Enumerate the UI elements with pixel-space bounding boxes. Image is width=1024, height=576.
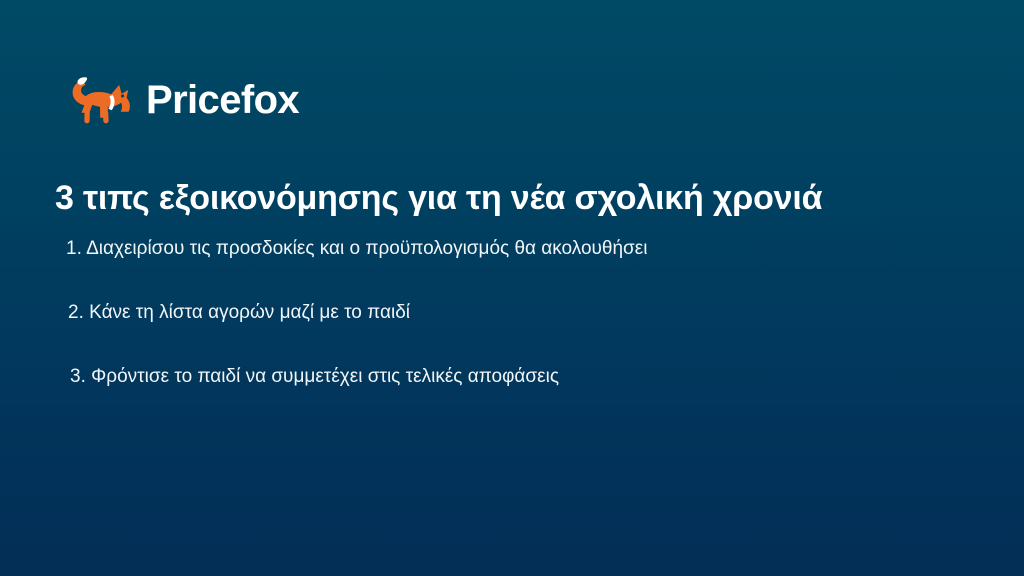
list-item: 1. Διαχειρίσου τις προσδοκίες και ο προϋ…: [66, 236, 966, 300]
brand-wordmark: Pricefox: [146, 80, 299, 120]
brand-logo[interactable]: Pricefox: [62, 70, 299, 130]
list-item: 3. Φρόντισε το παιδί να συμμετέχει στις …: [66, 364, 966, 428]
presentation-slide: Pricefox 3 τιπς εξοικονόμησης για τη νέα…: [0, 0, 1024, 576]
list-item: 2. Κάνε τη λίστα αγορών μαζί με το παιδί: [66, 300, 966, 364]
tips-list: 1. Διαχειρίσου τις προσδοκίες και ο προϋ…: [66, 236, 966, 428]
slide-headline: 3 τιπς εξοικονόμησης για τη νέα σχολική …: [55, 178, 975, 219]
fox-icon: [62, 72, 140, 128]
